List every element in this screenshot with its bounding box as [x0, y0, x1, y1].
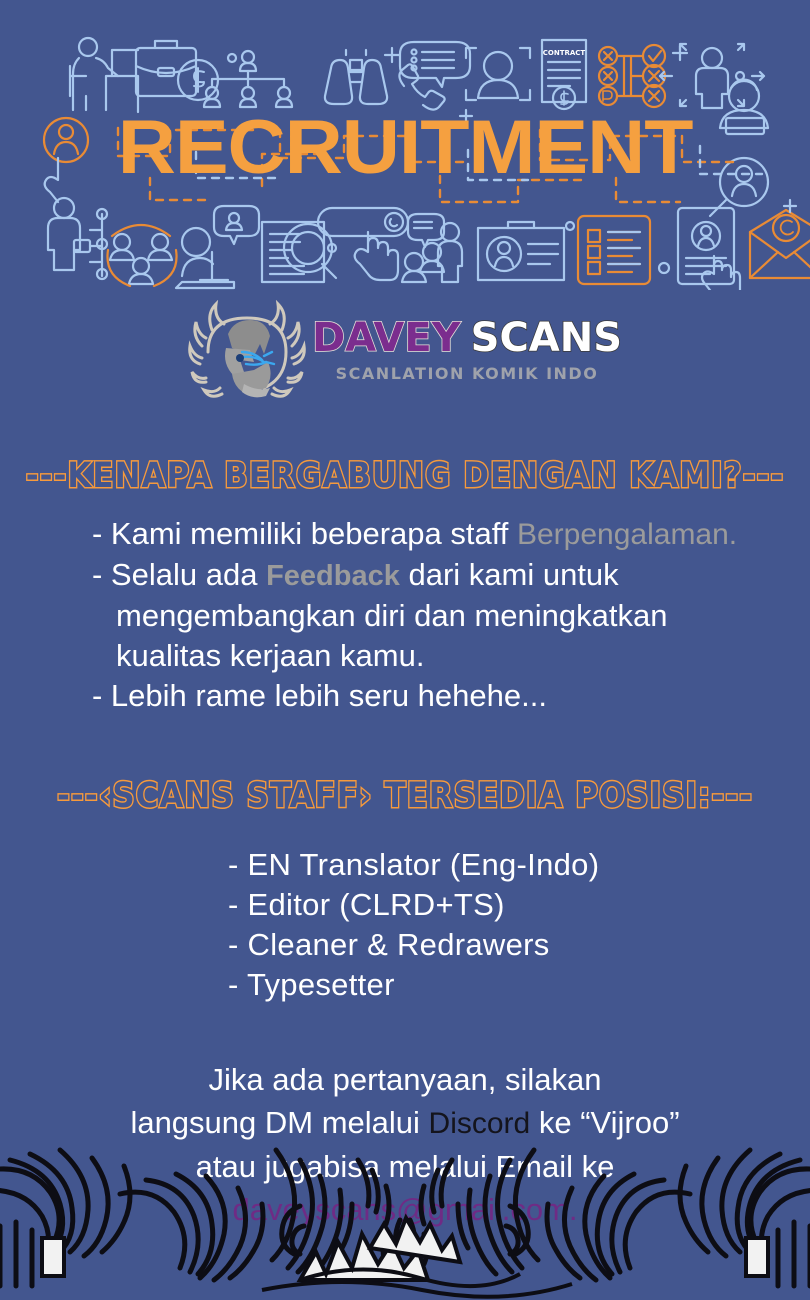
- contract-label: CONTRACT: [543, 49, 586, 57]
- list-item: - Kami memiliki beberapa staff Berpengal…: [92, 514, 792, 555]
- list-item: - Typesetter: [228, 965, 788, 1005]
- list-item: mengembangkan diri dan meningkatkan: [92, 596, 792, 636]
- section-heading-positions: ---‹SCANS STAFF› TERSEDIA POSISI:---: [0, 778, 810, 814]
- contact-text-suffix: ke “Vijroo”: [530, 1105, 679, 1140]
- reason-emphasis: Berpengalaman.: [517, 518, 737, 551]
- reason-text: - Selalu ada: [92, 557, 266, 592]
- positions-list: - EN Translator (Eng-Indo) - Editor (CLR…: [228, 845, 788, 1005]
- contact-email[interactable]: daveyscans@gmail.com.: [232, 1192, 577, 1227]
- contact-line-1: Jika ada pertanyaan, silakan: [0, 1058, 810, 1101]
- reason-text-suffix: dari kami untuk: [400, 557, 619, 592]
- reason-text: - Kami memiliki beberapa staff: [92, 516, 517, 551]
- icon-banner: CONTRACT: [0, 0, 810, 290]
- spartan-helmet-flame-icon: [188, 300, 306, 402]
- contact-discord-label: Discord: [429, 1107, 531, 1140]
- list-item: - Selalu ada Feedback dari kami untuk: [92, 555, 792, 596]
- logo-wordmark: DAVEYSCANS: [312, 318, 622, 358]
- reason-emphasis: Feedback: [266, 560, 400, 592]
- contact-line-3: atau jugabisa melalui Email ke: [0, 1145, 810, 1188]
- list-item: - Editor (CLRD+TS): [228, 885, 788, 925]
- recruitment-poster: CONTRACT: [0, 0, 810, 1300]
- section-heading-why-text: ---KENAPA BERGABUNG DENGAN KAMI?---: [26, 456, 785, 496]
- contact-block: Jika ada pertanyaan, silakan langsung DM…: [0, 1058, 810, 1231]
- brand-logo: DAVEYSCANS SCANLATION KOMIK INDO: [0, 298, 810, 403]
- list-item: - Lebih rame lebih seru hehehe...: [92, 676, 792, 716]
- list-item: kualitas kerjaan kamu.: [92, 636, 792, 676]
- logo-name-secondary: SCANS: [471, 315, 622, 361]
- contact-line-2: langsung DM melalui Discord ke “Vijroo”: [0, 1101, 810, 1145]
- list-item: - EN Translator (Eng-Indo): [228, 845, 788, 885]
- contact-line-4: daveyscans@gmail.com.: [0, 1188, 810, 1231]
- logo-name-primary: DAVEY: [312, 315, 461, 361]
- reasons-list: - Kami memiliki beberapa staff Berpengal…: [92, 514, 792, 716]
- section-heading-why: ---KENAPA BERGABUNG DENGAN KAMI?---: [0, 458, 810, 494]
- section-heading-positions-text: ---‹SCANS STAFF› TERSEDIA POSISI:---: [57, 776, 753, 816]
- contact-text: langsung DM melalui: [130, 1105, 428, 1140]
- list-item: - Cleaner & Redrawers: [228, 925, 788, 965]
- logo-text-block: DAVEYSCANS SCANLATION KOMIK INDO: [312, 318, 622, 383]
- logo-tagline: SCANLATION KOMIK INDO: [312, 364, 622, 383]
